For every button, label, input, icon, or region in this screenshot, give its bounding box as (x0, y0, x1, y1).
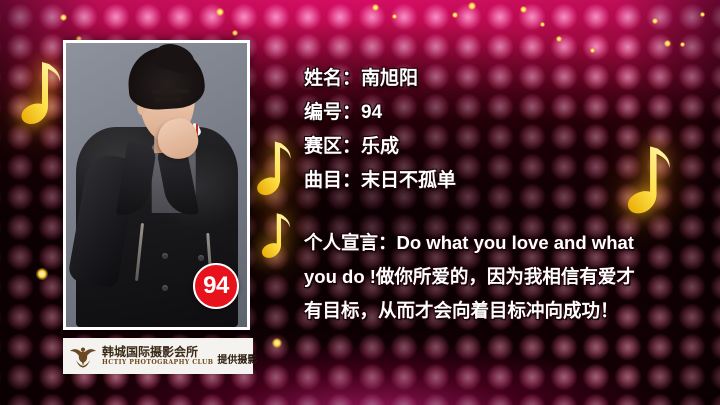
personal-declaration-block: 个人宣言：Do what you love and what you do !做… (304, 226, 670, 328)
poster-canvas: 94 韩城国际摄影会所 HCTIY PHOTOGRAPHY CLUB 提供摄影 … (0, 0, 720, 405)
watermark-text: 韩城国际摄影会所 HCTIY PHOTOGRAPHY CLUB (102, 346, 213, 366)
portrait-button (162, 285, 168, 291)
portrait-button (198, 255, 204, 261)
contestant-photo-frame: 94 (63, 40, 250, 330)
watermark-tagline: 提供摄影 (217, 351, 257, 366)
info-line-name: 姓名：南旭阳 (304, 62, 694, 96)
declaration-line-2: you do !做你所爱的，因为我相信有爱才 (304, 260, 670, 294)
watermark-english-name: HCTIY PHOTOGRAPHY CLUB (102, 360, 213, 366)
contestant-photo: 94 (66, 43, 247, 327)
info-line-number: 编号：94 (304, 96, 694, 130)
declaration-line-3: 有目标，从而才会向着目标冲向成功！ (304, 294, 670, 328)
photography-club-watermark: 韩城国际摄影会所 HCTIY PHOTOGRAPHY CLUB 提供摄影 (63, 338, 253, 374)
portrait-eye-right (166, 97, 181, 102)
crest-icon (68, 344, 98, 368)
info-line-region: 赛区：乐成 (304, 130, 694, 164)
watermark-chinese-name: 韩城国际摄影会所 (102, 346, 213, 358)
contestant-info-block: 姓名：南旭阳 编号：94 赛区：乐成 曲目：末日不孤单 (304, 62, 694, 198)
portrait-button (162, 253, 168, 259)
declaration-line-1: 个人宣言：Do what you love and what (304, 226, 670, 260)
contestant-number-badge: 94 (193, 263, 239, 309)
info-line-song: 曲目：末日不孤单 (304, 164, 694, 198)
